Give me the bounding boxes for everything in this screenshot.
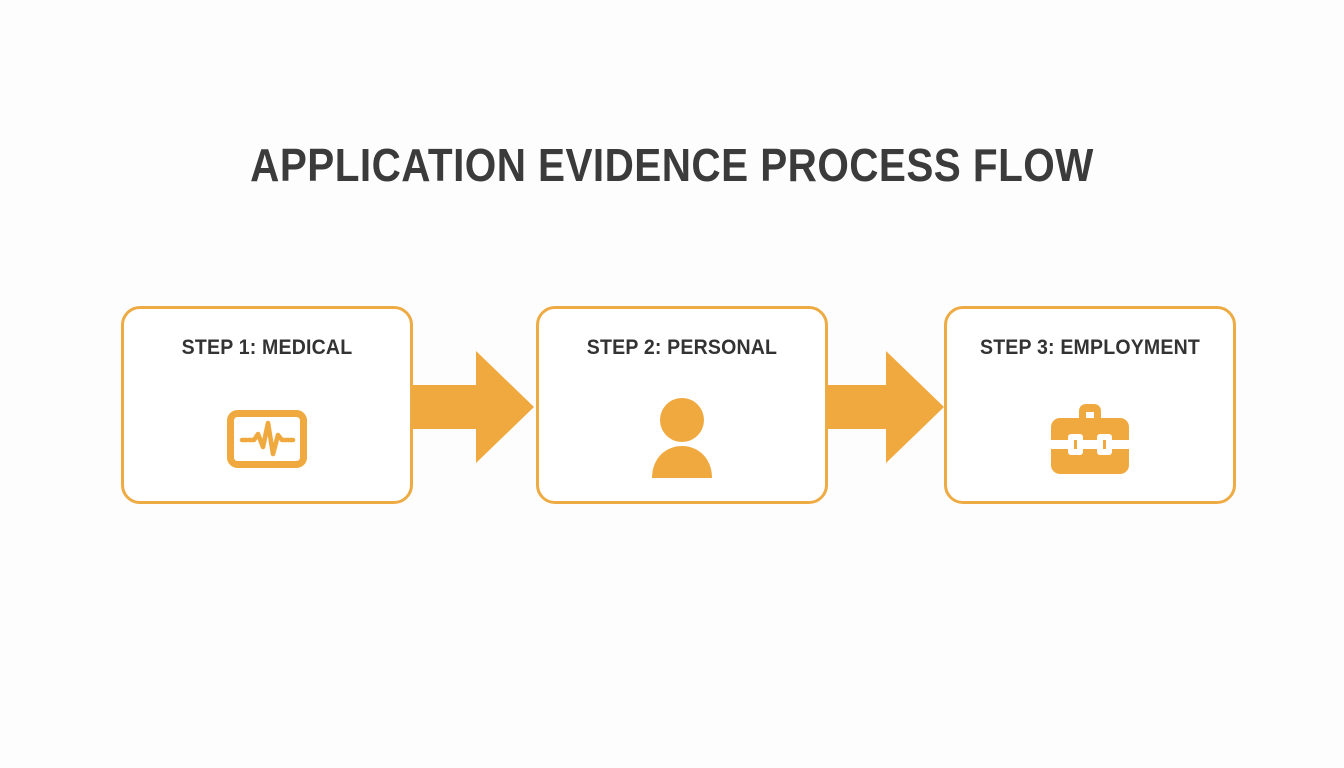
briefcase-icon [1042, 397, 1138, 481]
step-card-label: STEP 3: EMPLOYMENT [957, 336, 1223, 360]
step-card-personal[interactable]: STEP 2: PERSONAL [536, 306, 828, 504]
arrow-right-icon [410, 351, 534, 463]
diagram-canvas: APPLICATION EVIDENCE PROCESS FLOW STEP 1… [0, 0, 1344, 768]
ecg-monitor-icon [219, 397, 315, 481]
step-card-label: STEP 1: MEDICAL [134, 336, 400, 360]
step-card-label: STEP 2: PERSONAL [549, 336, 815, 360]
arrow-right-icon [820, 351, 944, 463]
step-card-employment[interactable]: STEP 3: EMPLOYMENT [944, 306, 1236, 504]
process-flow-row: STEP 1: MEDICAL STEP 2: PERSONAL STEP 3:… [0, 0, 1344, 768]
person-icon [634, 397, 730, 481]
step-card-medical[interactable]: STEP 1: MEDICAL [121, 306, 413, 504]
